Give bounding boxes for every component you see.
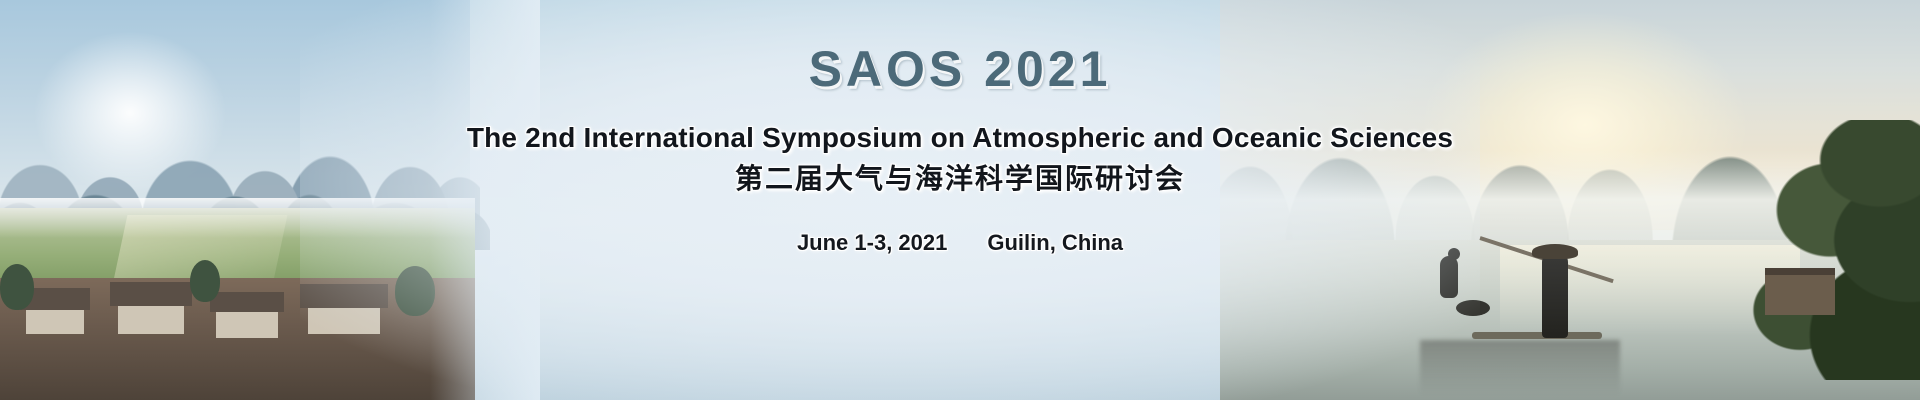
conference-full-name-chinese: 第二届大气与海洋科学国际研讨会 [735, 161, 1185, 196]
conference-dates: June 1-3, 2021 [797, 230, 947, 256]
conference-meta: June 1-3, 2021 Guilin, China [797, 230, 1123, 256]
conference-acronym-title: SAOS 2021 [809, 44, 1112, 94]
conference-location: Guilin, China [987, 230, 1123, 256]
conference-banner: SAOS 2021 The 2nd International Symposiu… [0, 0, 1920, 400]
banner-content: SAOS 2021 The 2nd International Symposiu… [0, 0, 1920, 400]
conference-full-name-english: The 2nd International Symposium on Atmos… [467, 120, 1453, 155]
